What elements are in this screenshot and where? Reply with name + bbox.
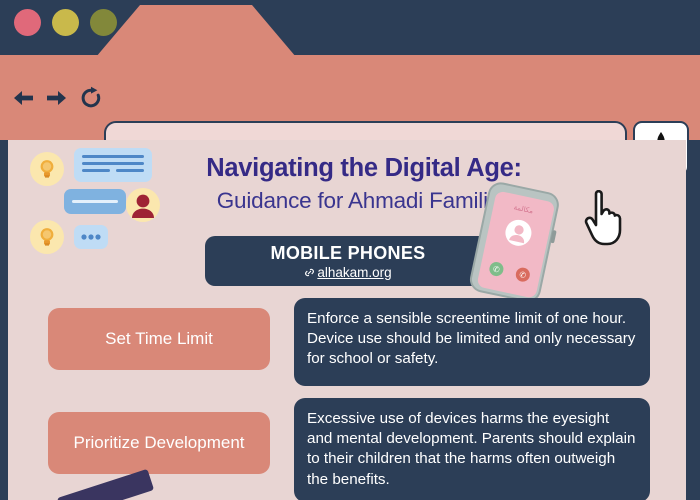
window-controls [14,9,117,36]
row-label-text: Set Time Limit [105,329,213,349]
lightbulb-icon-2 [30,220,64,254]
row-label-text: Prioritize Development [73,433,244,453]
back-button[interactable] [8,83,38,113]
browser-window: Instruction from Hazrat Khalifatul Masih… [0,0,700,500]
browser-toolbar: Instruction from Hazrat Khalifatul Masih… [0,55,700,140]
row-label-prioritize-development[interactable]: Prioritize Development [48,412,270,474]
row-description-prioritize-development: Excessive use of devices harms the eyesi… [294,398,650,500]
topic-label: MOBILE PHONES [271,243,426,264]
page-viewport: Navigating the Digital Age: Guidance for… [8,140,686,500]
link-icon [304,267,315,278]
reload-icon [79,86,103,110]
phone-caller-name: مكالمة [493,199,553,219]
arrow-left-icon [11,88,35,108]
source-link-text: alhakam.org [317,265,391,280]
maximize-window-button[interactable] [90,9,117,36]
source-link[interactable]: alhakam.org [304,265,391,280]
ellipsis-icon [74,225,108,249]
arrow-right-icon [45,88,69,108]
reload-button[interactable] [76,83,106,113]
row-description-set-time-limit: Enforce a sensible screentime limit of o… [294,298,650,386]
close-window-button[interactable] [14,9,41,36]
topic-pill[interactable]: MOBILE PHONES alhakam.org [205,236,491,286]
hand-pointer-cursor [582,190,628,246]
phone-decline-icon[interactable]: ✆ [515,266,532,283]
browser-title-bar [0,0,700,57]
phone-screen: مكالمة ✆ ✆ [476,190,555,298]
minimize-window-button[interactable] [52,9,79,36]
navigation-buttons [8,83,106,113]
person-icon [503,217,534,248]
row-label-set-time-limit[interactable]: Set Time Limit [48,308,270,370]
page-title: Navigating the Digital Age: [42,154,686,183]
browser-tab-active[interactable] [96,5,296,57]
row-description-text: Excessive use of devices harms the eyesi… [307,410,635,488]
phone-accept-icon[interactable]: ✆ [488,261,505,278]
forward-button[interactable] [42,83,72,113]
row-description-text: Enforce a sensible screentime limit of o… [307,310,635,367]
